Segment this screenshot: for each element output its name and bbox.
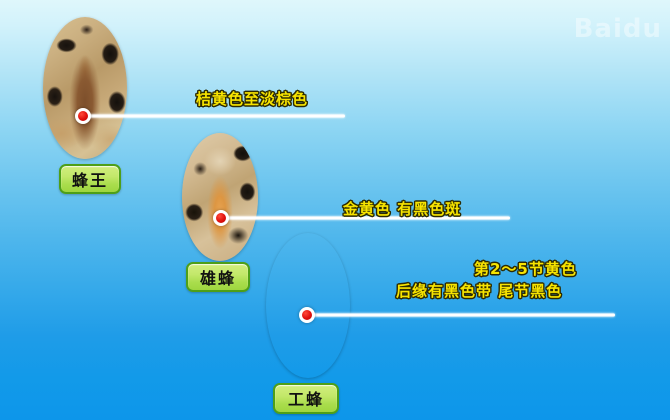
badge-drone-label: 雄蜂	[200, 265, 236, 289]
worker-bee-image	[266, 233, 350, 378]
drone-bee-photo	[182, 133, 258, 261]
worker-bee-photo	[266, 233, 350, 378]
annotation-queen-line-1: 桔黄色至淡棕色	[196, 88, 308, 110]
annotation-worker-line-1: 第2～5节黄色	[474, 258, 577, 280]
marker-dot-queen	[75, 108, 91, 124]
badge-queen-label: 蜂王	[72, 167, 108, 191]
baidu-watermark: Baidu	[574, 14, 662, 44]
lead-line-queen	[83, 114, 345, 118]
badge-worker-label: 工蜂	[288, 386, 324, 410]
badge-queen: 蜂王	[59, 164, 121, 194]
queen-bee-photo	[43, 17, 127, 159]
queen-bee-image	[43, 17, 127, 159]
annotation-worker-line-2: 后缘有黑色带 尾节黑色	[396, 280, 562, 302]
badge-drone: 雄蜂	[186, 262, 250, 292]
drone-bee-image	[182, 133, 258, 261]
annotation-drone-line-1: 金黄色 有黑色斑	[343, 198, 461, 220]
marker-dot-worker	[299, 307, 315, 323]
diagram-canvas: Baidu 桔黄色至淡棕色 蜂王 金黄色 有黑色斑 雄蜂 第2～5节黄色 后缘有…	[0, 0, 670, 420]
badge-worker: 工蜂	[273, 383, 339, 414]
marker-dot-drone	[213, 210, 229, 226]
lead-line-worker	[308, 313, 615, 317]
